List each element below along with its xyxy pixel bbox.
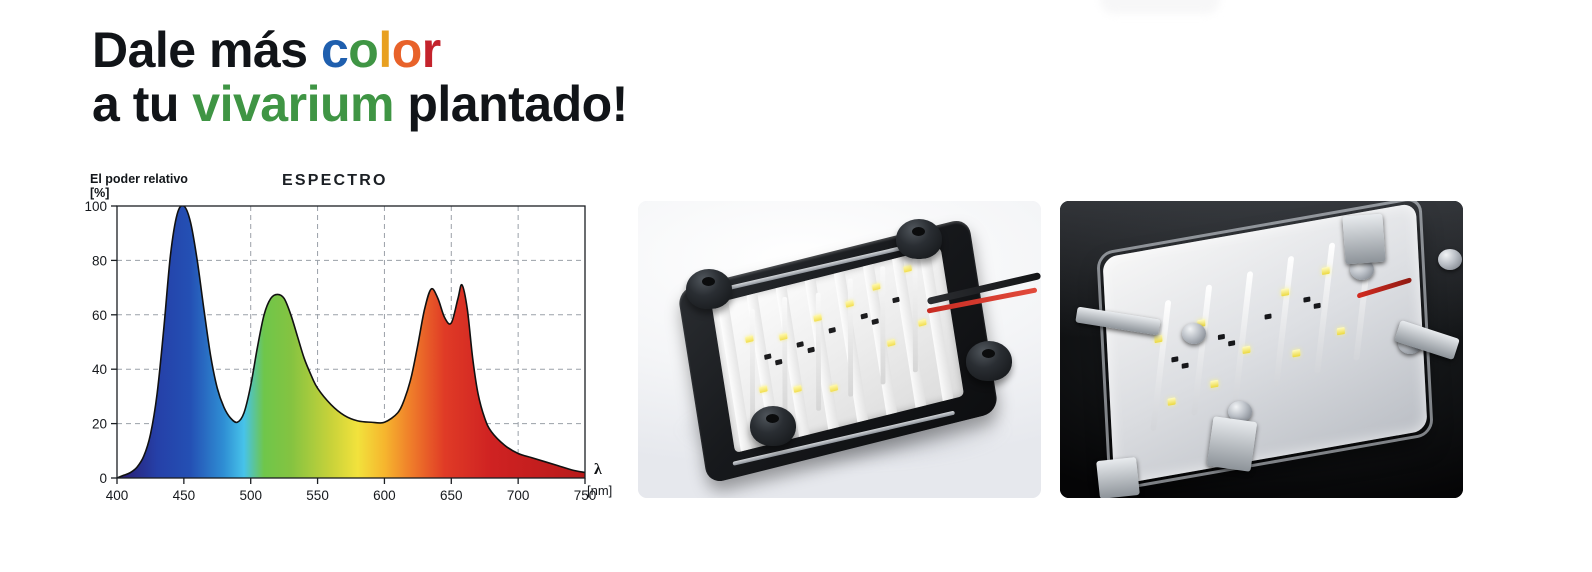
chart-series-area [117, 206, 585, 478]
photo2-screw [1438, 249, 1462, 270]
y-tick-20: 20 [92, 417, 107, 432]
x-tick-500: 500 [239, 488, 262, 503]
x-tick-700: 700 [507, 488, 530, 503]
x-tick-450: 450 [173, 488, 196, 503]
photo2-metal-clamp [1096, 457, 1140, 498]
headline-letter-l: l [378, 22, 391, 78]
photo1-suction-foot [896, 219, 942, 259]
spectrum-chart: El poder relativo [%] ESPECTRO 020406080… [82, 168, 642, 513]
y-tick-100: 100 [84, 199, 107, 214]
photo1-suction-foot [686, 269, 732, 309]
product-photo-led-panel-dark[interactable] [1060, 201, 1463, 498]
chart-plot-svg: 020406080100 400450500550600650700750 λ … [82, 168, 642, 513]
x-tick-400: 400 [106, 488, 129, 503]
headline-line2-prefix: a tu [92, 76, 192, 132]
photo1-suction-foot [966, 341, 1012, 381]
headline-letter-o1: o [348, 22, 378, 78]
headline-line1-text: Dale más [92, 22, 321, 78]
photo2-metal-clamp [1207, 416, 1258, 472]
y-tick-0: 0 [99, 471, 107, 486]
headline-word-vivarium: vivarium [192, 76, 394, 132]
chart-y-tick-labels: 020406080100 [84, 199, 107, 486]
x-axis-lambda-symbol: λ [594, 461, 602, 478]
product-photo-led-panel-white[interactable] [638, 201, 1041, 498]
x-tick-600: 600 [373, 488, 396, 503]
x-tick-550: 550 [306, 488, 329, 503]
page-title: Dale más color a tu vivarium plantado! [92, 24, 628, 130]
top-edge-artifact [1100, 0, 1220, 14]
photo1-suction-foot [750, 406, 796, 446]
photo2-metal-clamp [1342, 214, 1385, 265]
x-tick-650: 650 [440, 488, 463, 503]
x-axis-unit-label: [nm] [587, 483, 612, 498]
photo2-screw [1182, 323, 1206, 344]
y-tick-40: 40 [92, 362, 107, 377]
headline-line-1: Dale más color [92, 24, 628, 76]
headline-letter-o2: o [392, 22, 422, 78]
headline-line-2: a tu vivarium plantado! [92, 78, 628, 130]
headline-line2-suffix: plantado! [394, 76, 628, 132]
y-tick-80: 80 [92, 253, 107, 268]
y-tick-60: 60 [92, 308, 107, 323]
headline-letter-c: c [321, 22, 348, 78]
headline-letter-r: r [422, 22, 441, 78]
chart-x-tick-labels: 400450500550600650700750 [106, 488, 597, 503]
